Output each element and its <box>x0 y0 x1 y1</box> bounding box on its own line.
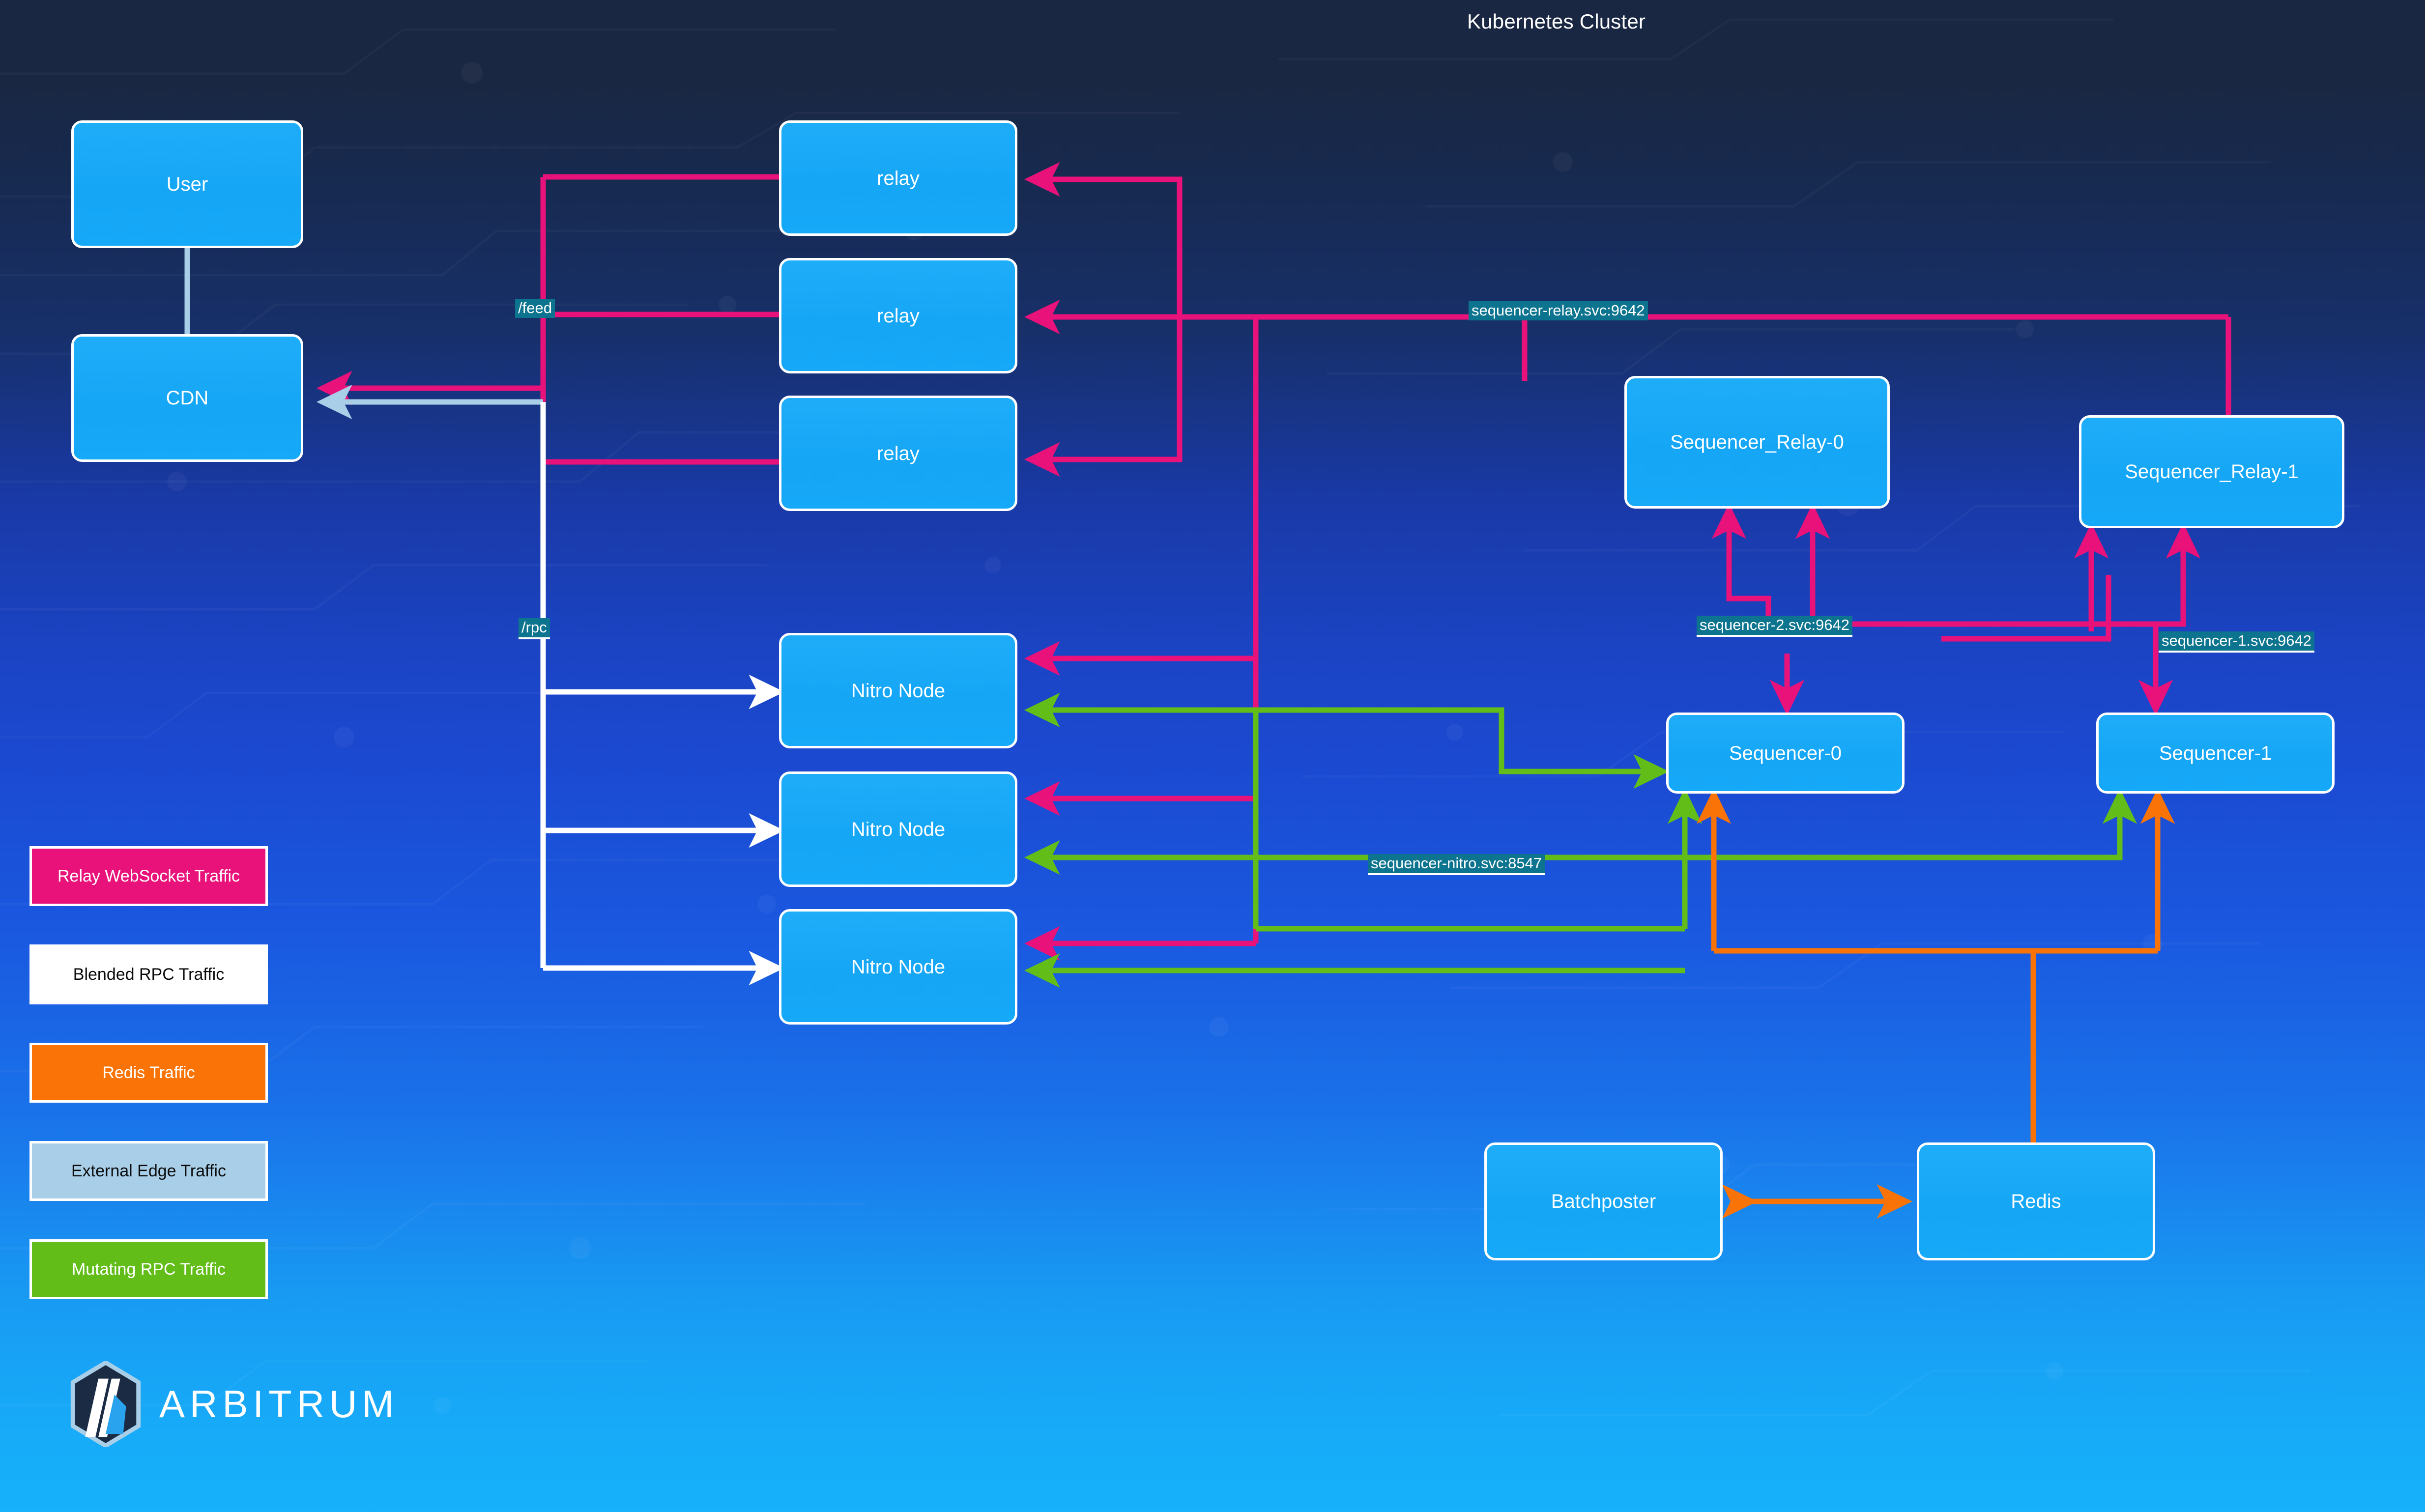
wire-mutating-seq0-bus <box>1256 710 1685 929</box>
node-relay-1[interactable]: relay <box>779 120 1017 236</box>
legend-label: Relay WebSocket Traffic <box>58 866 240 886</box>
legend-label: Blended RPC Traffic <box>73 965 224 985</box>
node-redis[interactable]: Redis <box>1917 1142 2155 1260</box>
node-nitro-1[interactable]: Nitro Node <box>779 633 1017 748</box>
node-sequencer-1[interactable]: Sequencer-1 <box>2096 713 2335 794</box>
wire-rpc-to-nitro <box>543 692 779 968</box>
node-user[interactable]: User <box>71 120 303 248</box>
brand-logo: ARBITRUM <box>69 1361 399 1447</box>
wire-to-relay1-right <box>2108 528 2183 624</box>
wire-seqrelay-to-nitro <box>1030 658 1256 943</box>
legend-item-external-edge-traffic[interactable]: External Edge Traffic <box>29 1141 268 1201</box>
edge-label-feed: /feed <box>515 299 555 318</box>
node-sequencer-0[interactable]: Sequencer-0 <box>1666 713 1905 794</box>
node-relay-3[interactable]: relay <box>779 396 1017 511</box>
node-cdn[interactable]: CDN <box>71 334 303 462</box>
wire-seq2-right <box>1941 575 2108 639</box>
wire-seq2-to-relay0 <box>1729 509 1768 624</box>
node-sequencer-relay-1[interactable]: Sequencer_Relay-1 <box>2079 415 2344 528</box>
wire-seqrelay-to-relays <box>1030 179 1256 459</box>
legend-label: External Edge Traffic <box>71 1161 226 1181</box>
edge-label-rpc: /rpc <box>519 618 550 639</box>
edge-label-sequencer-nitro-svc: sequencer-nitro.svc:8547 <box>1368 854 1545 875</box>
arbitrum-logo-icon <box>69 1361 143 1447</box>
wire-seqbus-to-relay0 <box>1813 509 2108 624</box>
edge-label-sequencer-1-svc: sequencer-1.svc:9642 <box>2159 631 2314 653</box>
edge-label-sequencer-relay-svc: sequencer-relay.svc:9642 <box>1469 301 1648 320</box>
legend-item-blended-rpc-traffic[interactable]: Blended RPC Traffic <box>29 944 268 1004</box>
legend-label: Mutating RPC Traffic <box>72 1259 226 1280</box>
node-nitro-3[interactable]: Nitro Node <box>779 909 1017 1025</box>
legend-item-mutating-rpc-traffic[interactable]: Mutating RPC Traffic <box>29 1239 268 1299</box>
edge-label-sequencer-2-svc: sequencer-2.svc:9642 <box>1697 616 1852 637</box>
node-nitro-2[interactable]: Nitro Node <box>779 771 1017 887</box>
node-sequencer-relay-0[interactable]: Sequencer_Relay-0 <box>1624 376 1890 509</box>
legend-label: Redis Traffic <box>102 1063 195 1083</box>
node-batchposter[interactable]: Batchposter <box>1484 1142 1723 1260</box>
legend: Relay WebSocket Traffic Blended RPC Traf… <box>29 846 268 1338</box>
diagram-canvas: Kubernetes Cluster User CDN relay relay … <box>0 0 2425 1512</box>
connection-wires <box>0 0 2425 1512</box>
node-relay-2[interactable]: relay <box>779 258 1017 373</box>
page-title: Kubernetes Cluster <box>1467 10 1646 33</box>
legend-item-relay-websocket-traffic[interactable]: Relay WebSocket Traffic <box>29 846 268 906</box>
brand-name: ARBITRUM <box>159 1382 399 1426</box>
wire-mutating-up-seq1 <box>1685 794 2120 857</box>
wire-mutating-into-seq0 <box>1256 710 1664 771</box>
circuit-background <box>0 0 2425 1512</box>
legend-item-redis-traffic[interactable]: Redis Traffic <box>29 1043 268 1103</box>
wire-feed-relay-bus <box>543 177 779 462</box>
